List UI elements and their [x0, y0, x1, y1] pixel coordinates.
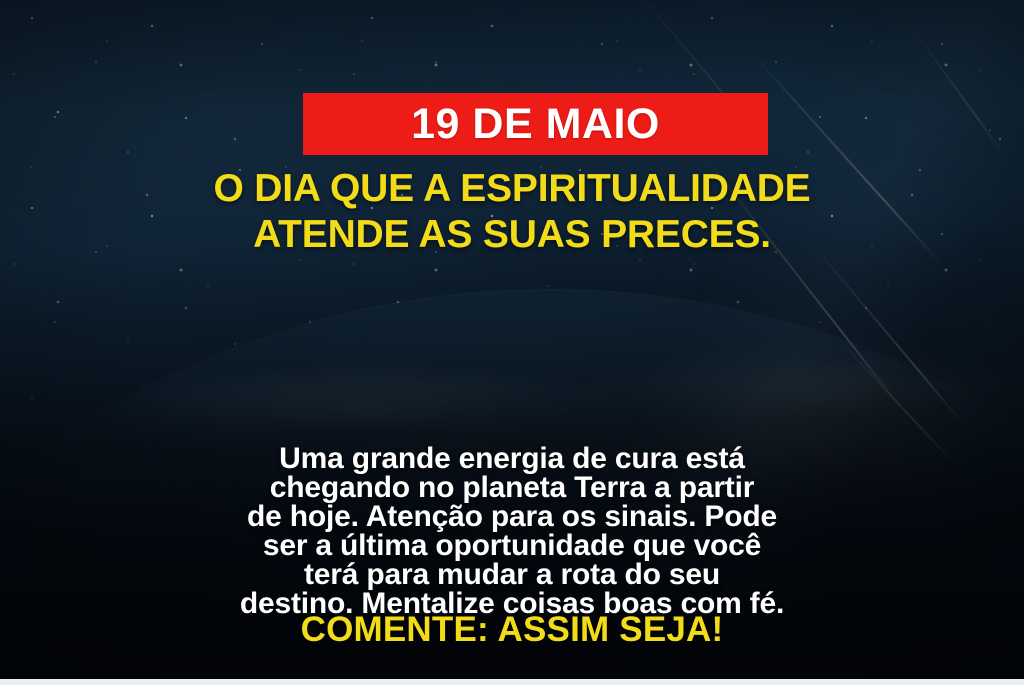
headline-line-2: ATENDE AS SUAS PRECES. [0, 212, 1024, 258]
poster-content: 19 DE MAIO O DIA QUE A ESPIRITUALIDADE A… [0, 0, 1024, 685]
headline-line-1: O DIA QUE A ESPIRITUALIDADE [0, 166, 1024, 212]
date-banner-label: 19 DE MAIO [411, 103, 660, 146]
body-line-3: de hoje. Atenção para os sinais. Pode [0, 502, 1024, 531]
bottom-edge-strip [0, 679, 1024, 685]
body-line-5: terá para mudar a rota do seu [0, 560, 1024, 589]
call-to-action-text: COMENTE: ASSIM SEJA! [0, 612, 1024, 647]
poster-canvas: 19 DE MAIO O DIA QUE A ESPIRITUALIDADE A… [0, 0, 1024, 685]
body-line-4: ser a última oportunidade que você [0, 531, 1024, 560]
date-banner: 19 DE MAIO [303, 93, 768, 155]
body-paragraph: Uma grande energia de cura está chegando… [0, 444, 1024, 618]
headline: O DIA QUE A ESPIRITUALIDADE ATENDE AS SU… [0, 166, 1024, 258]
body-line-1: Uma grande energia de cura está [0, 444, 1024, 473]
body-line-2: chegando no planeta Terra a partir [0, 473, 1024, 502]
